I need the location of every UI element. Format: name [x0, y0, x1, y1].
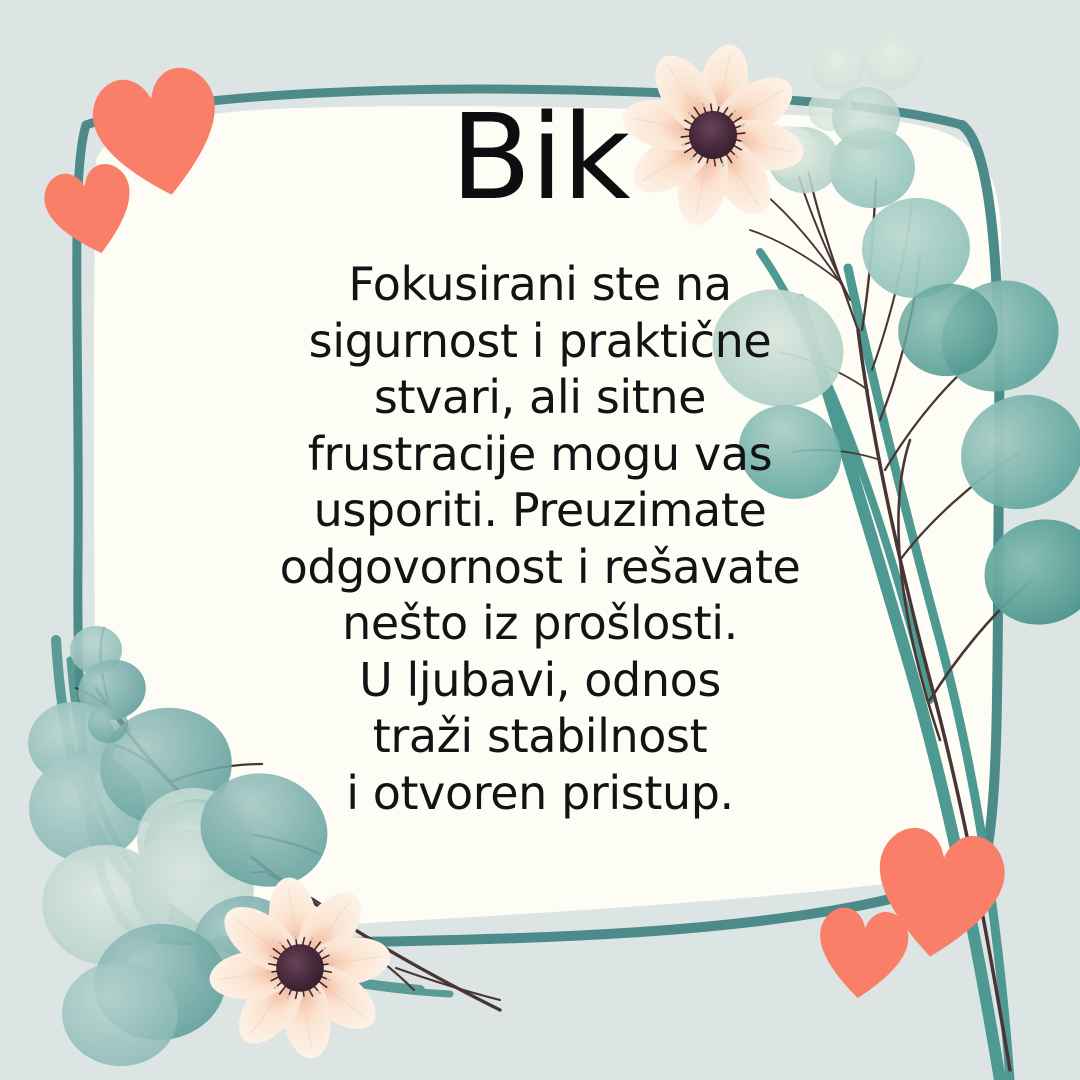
anemone-flower-top-right [604, 26, 823, 245]
flowers-layer [0, 0, 1080, 1080]
horoscope-card: Bik Fokusirani ste nasigurnost i praktič… [0, 0, 1080, 1080]
anemone-flower-bottom-left [197, 865, 403, 1071]
